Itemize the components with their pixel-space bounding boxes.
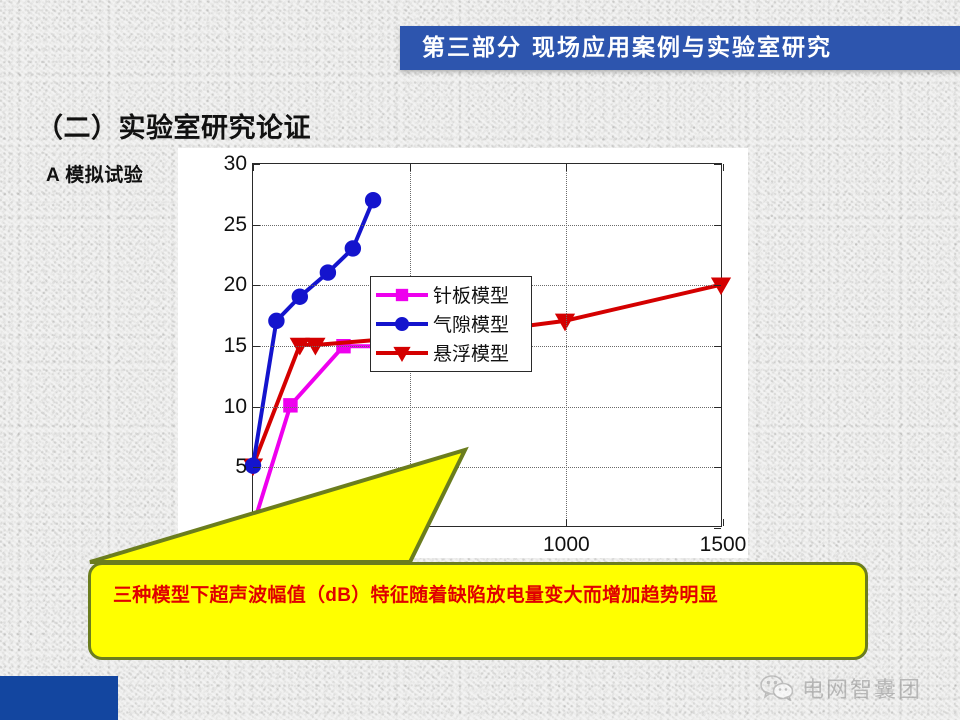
chart-y-tick bbox=[714, 285, 721, 286]
legend-item: 针板模型 bbox=[376, 280, 525, 309]
chart-data-point bbox=[397, 289, 407, 299]
chart-data-point bbox=[293, 290, 307, 304]
wechat-icon bbox=[760, 675, 794, 701]
chart-y-tick bbox=[714, 346, 721, 347]
chart-y-tick bbox=[253, 164, 260, 165]
chart-gridline-vertical bbox=[566, 164, 567, 526]
chart-y-tick bbox=[253, 407, 260, 408]
footer-accent-bar bbox=[0, 676, 118, 720]
chart-y-tick-label: 30 bbox=[224, 152, 247, 176]
chart-data-point bbox=[396, 318, 408, 330]
chart-y-tick bbox=[714, 407, 721, 408]
chart-data-point bbox=[395, 347, 409, 359]
legend-item: 悬浮模型 bbox=[376, 338, 525, 367]
chart-y-tick bbox=[253, 346, 260, 347]
chart-y-tick bbox=[253, 225, 260, 226]
legend-swatch bbox=[376, 285, 428, 305]
legend-label: 气隙模型 bbox=[433, 310, 509, 337]
legend-label: 针板模型 bbox=[433, 281, 509, 308]
header-banner-title: 第三部分 现场应用案例与实验室研究 bbox=[400, 26, 960, 70]
callout-box: 三种模型下超声波幅值（dB）特征随着缺陷放电量变大而增加趋势明显 bbox=[88, 562, 868, 660]
header-banner: 第三部分 现场应用案例与实验室研究 bbox=[400, 26, 960, 70]
chart-x-tick bbox=[410, 164, 411, 171]
chart-x-tick bbox=[566, 519, 567, 526]
chart-y-tick-label: 20 bbox=[224, 273, 247, 297]
chart-x-tick bbox=[253, 164, 254, 171]
page-subtitle: A 模拟试验 bbox=[46, 160, 143, 187]
legend-marker bbox=[391, 284, 413, 306]
chart-data-point bbox=[346, 242, 360, 256]
chart-x-tick-label: 1500 bbox=[700, 533, 747, 557]
callout-text: 三种模型下超声波幅值（dB）特征随着缺陷放电量变大而增加趋势明显 bbox=[113, 579, 847, 612]
chart-x-tick bbox=[723, 519, 724, 526]
chart-x-tick bbox=[566, 164, 567, 171]
chart-y-tick bbox=[253, 285, 260, 286]
chart-data-point bbox=[321, 266, 335, 280]
chart-y-tick bbox=[714, 164, 721, 165]
chart-x-tick bbox=[723, 164, 724, 171]
legend-label: 悬浮模型 bbox=[433, 339, 509, 366]
chart-data-point bbox=[366, 193, 380, 207]
watermark-text: 电网智囊团 bbox=[802, 672, 922, 704]
chart-y-tick bbox=[714, 467, 721, 468]
chart-gridline-horizontal bbox=[253, 407, 721, 408]
chart-data-point bbox=[284, 399, 296, 411]
legend-marker bbox=[391, 342, 413, 364]
chart-y-tick-label: 25 bbox=[224, 213, 247, 237]
legend-swatch bbox=[376, 314, 428, 334]
chart-y-tick-label: 15 bbox=[224, 334, 247, 358]
watermark: 电网智囊团 bbox=[760, 672, 922, 704]
chart-gridline-horizontal bbox=[253, 225, 721, 226]
chart-y-tick-label: 10 bbox=[224, 395, 247, 419]
legend-marker bbox=[391, 313, 413, 335]
chart-y-tick bbox=[714, 528, 721, 529]
legend-swatch bbox=[376, 343, 428, 363]
chart-legend: 针板模型气隙模型悬浮模型 bbox=[370, 276, 532, 372]
chart-y-tick bbox=[714, 225, 721, 226]
chart-x-tick-label: 1000 bbox=[543, 533, 590, 557]
page-title: （二）实验室研究论证 bbox=[36, 106, 311, 145]
chart-data-point bbox=[269, 314, 283, 328]
legend-item: 气隙模型 bbox=[376, 309, 525, 338]
chart-series-line bbox=[253, 200, 373, 465]
